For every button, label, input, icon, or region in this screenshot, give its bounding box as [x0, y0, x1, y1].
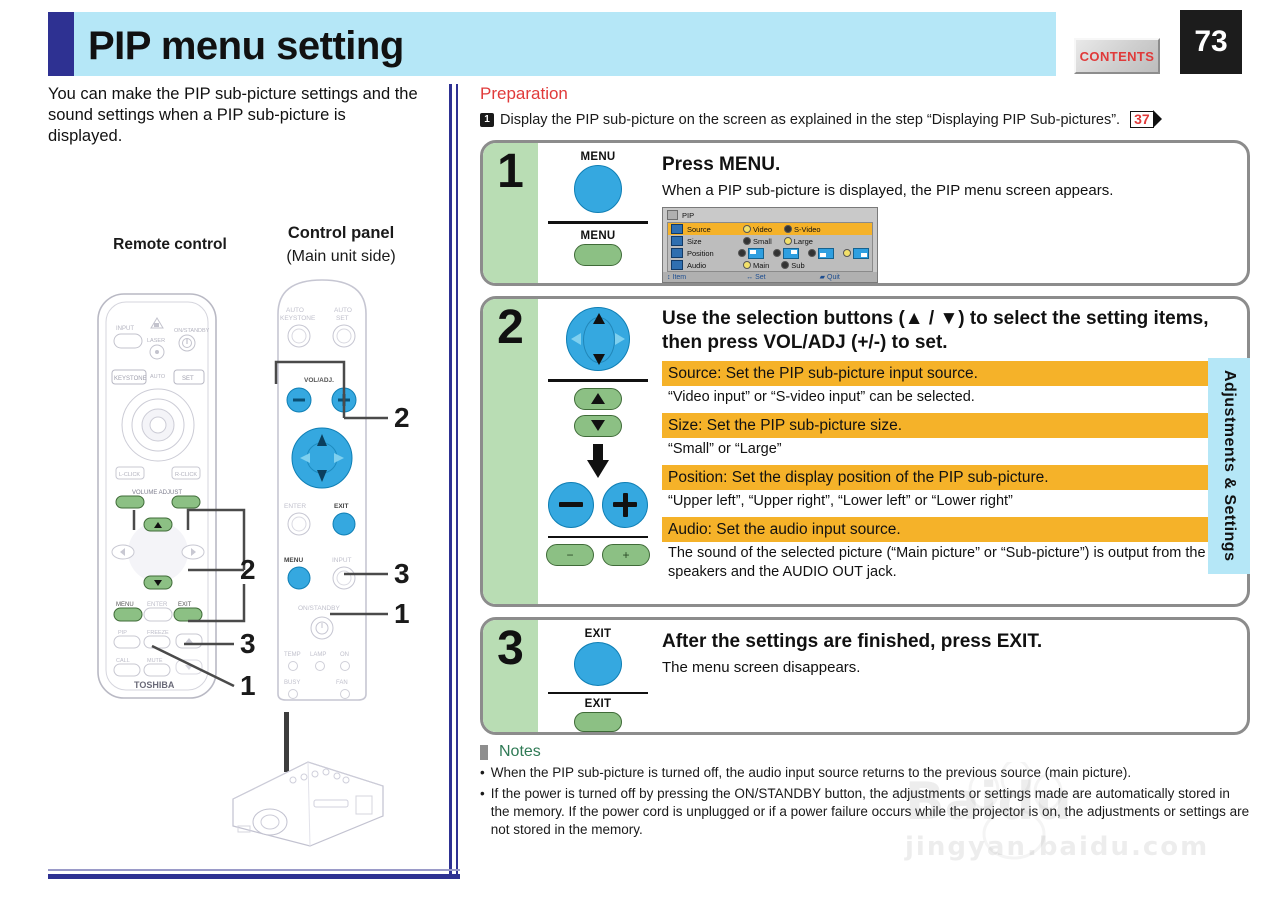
source-icon: [671, 224, 683, 234]
step-1-heading: Press MENU.: [662, 153, 1233, 177]
pip-row-audio[interactable]: Audio Main Sub: [668, 259, 872, 271]
svg-text:FAN: FAN: [336, 680, 348, 686]
svg-text:TOSHIBA: TOSHIBA: [134, 680, 175, 690]
svg-text:ON: ON: [340, 652, 349, 658]
setting-source-title: Source: Set the PIP sub-picture input so…: [662, 361, 1233, 386]
step-1-keys: MENU MENU: [538, 143, 658, 283]
pip-row-position[interactable]: Position: [668, 247, 872, 259]
flow-arrow-icon: [587, 444, 609, 478]
svg-text:L-CLICK: L-CLICK: [119, 472, 140, 478]
pip-option-large[interactable]: Large: [784, 237, 813, 246]
pip-row-source[interactable]: Source Video S-Video: [668, 223, 872, 235]
remote-control-illustration: INPUT LASER ON/STANDBY KEYSTONE AUTO SET…: [90, 290, 230, 710]
pip-position-upper-left[interactable]: [738, 248, 764, 259]
page-number: 73: [1194, 25, 1227, 59]
watermark-paw-icon: [960, 762, 1080, 872]
pip-position-upper-right[interactable]: [773, 248, 799, 259]
svg-text:AUTO: AUTO: [150, 374, 166, 380]
step-3-number-panel: 3: [483, 620, 538, 732]
svg-text:SET: SET: [336, 315, 349, 322]
footer-set-label: Set: [755, 274, 766, 281]
preparation-text: Display the PIP sub-picture on the scree…: [500, 110, 1120, 130]
pip-option-main[interactable]: Main: [743, 261, 769, 270]
step-2-number: 2: [497, 303, 524, 353]
page-reference-number: 37: [1130, 111, 1154, 128]
control-panel-label: Control panel: [241, 224, 441, 243]
side-tab-label: Adjustments & Settings: [1219, 370, 1239, 561]
svg-text:SET: SET: [182, 376, 194, 382]
step-3-body: After the settings are finished, press E…: [658, 620, 1247, 732]
pip-row-size-label: Size: [687, 237, 739, 246]
contents-button[interactable]: CONTENTS: [1074, 38, 1160, 74]
svg-text:ON/STANDBY: ON/STANDBY: [298, 605, 340, 612]
svg-text:KEYSTONE: KEYSTONE: [114, 376, 147, 382]
pip-option-video[interactable]: Video: [743, 225, 772, 234]
pip-row-size[interactable]: Size Small Large: [668, 235, 872, 247]
svg-text:R-CLICK: R-CLICK: [175, 472, 197, 478]
control-panel-illustration: AUTO KEYSTONE AUTO SET VOL/ADJ. ENTER EX…: [266, 274, 386, 704]
preparation-badge: 1: [480, 113, 494, 127]
pip-menu-title: PIP: [682, 211, 694, 220]
pip-row-audio-label: Audio: [687, 261, 739, 270]
svg-text:CALL: CALL: [116, 658, 130, 664]
pip-position-lower-left[interactable]: [808, 248, 834, 259]
control-panel-sublabel: (Main unit side): [241, 248, 441, 266]
bottom-rule-light: [48, 869, 460, 871]
pip-menu-footer: ↕ Item ↔ Set ▰ Quit: [663, 272, 877, 282]
position-icon: [671, 248, 683, 258]
step-3: 3 EXIT EXIT After the settings are finis…: [480, 617, 1250, 735]
footer-set-icon: ↔: [746, 274, 753, 281]
projector-illustration: [178, 704, 418, 864]
selection-up-button-icon[interactable]: [574, 388, 622, 410]
step-2-keys: − +: [538, 299, 658, 604]
setting-position-title: Position: Set the display position of th…: [662, 465, 1233, 490]
page-reference-arrow-icon: [1153, 110, 1162, 128]
step-3-number: 3: [497, 624, 524, 674]
svg-text:MUTE: MUTE: [147, 658, 163, 664]
pip-row-position-label: Position: [687, 249, 734, 258]
svg-text:MENU: MENU: [284, 557, 303, 564]
size-icon: [671, 236, 683, 246]
svg-text:MENU: MENU: [116, 602, 134, 608]
key-separator: [548, 536, 648, 539]
key-separator: [548, 379, 648, 382]
svg-text:INPUT: INPUT: [332, 557, 352, 564]
step-1-panel-key-label: MENU: [580, 230, 615, 242]
pip-option-small[interactable]: Small: [743, 237, 772, 246]
right-column: Preparation 1 Display the PIP sub-pictur…: [480, 84, 1250, 839]
step-3-heading: After the settings are finished, press E…: [662, 630, 1233, 654]
footer-quit-icon: ▰: [820, 273, 825, 281]
side-tab-adjustments-settings[interactable]: Adjustments & Settings: [1208, 358, 1250, 574]
svg-text:LASER: LASER: [147, 338, 165, 344]
setting-audio-detail: The sound of the selected picture (“Main…: [662, 542, 1233, 582]
pip-menu-rows: Source Video S-Video Size Small Large: [667, 222, 873, 272]
step-3-panel-key-label: EXIT: [585, 698, 612, 710]
notes-header: Notes: [480, 743, 1250, 761]
step-3-subtext: The menu screen disappears.: [662, 658, 1233, 678]
key-separator: [548, 221, 648, 224]
callout-remote-2: 2: [240, 554, 256, 586]
notes-mark-icon: [480, 745, 493, 760]
callout-remote-3: 3: [240, 628, 256, 660]
column-divider: [449, 84, 452, 874]
note-item-1: • When the PIP sub-picture is turned off…: [480, 764, 1250, 782]
svg-text:FREEZE: FREEZE: [147, 630, 169, 636]
vol-plus-pill-icon[interactable]: +: [602, 544, 650, 566]
callout-panel-3: 3: [394, 558, 410, 590]
vol-minus-button-icon[interactable]: [548, 482, 594, 528]
intro-text: You can make the PIP sub-picture setting…: [48, 84, 423, 147]
note-item-2: • If the power is turned off by pressing…: [480, 785, 1250, 839]
step-3-keys: EXIT EXIT: [538, 620, 658, 732]
preparation-title: Preparation: [480, 84, 1250, 104]
key-separator: [548, 692, 648, 694]
pip-menu-screenshot: PIP Source Video S-Video Size Small: [662, 207, 878, 283]
svg-text:TEMP: TEMP: [284, 652, 301, 658]
svg-text:VOLUME ADJUST: VOLUME ADJUST: [132, 490, 182, 496]
callout-remote-1: 1: [240, 670, 256, 702]
svg-text:ENTER: ENTER: [284, 503, 306, 510]
svg-text:ENTER: ENTER: [147, 602, 168, 608]
svg-text:LAMP: LAMP: [310, 652, 326, 658]
pip-row-source-label: Source: [687, 225, 739, 234]
setting-size-title: Size: Set the PIP sub-picture size.: [662, 413, 1233, 438]
setting-audio-title: Audio: Set the audio input source.: [662, 517, 1233, 542]
selection-down-button-icon[interactable]: [574, 415, 622, 437]
footer-item-icon: ↕: [667, 274, 671, 281]
svg-text:KEYSTONE: KEYSTONE: [280, 315, 316, 322]
column-divider-secondary: [456, 84, 458, 874]
vol-minus-pill-icon[interactable]: −: [546, 544, 594, 566]
header-accent-tab: [48, 12, 74, 76]
svg-text:PIP: PIP: [118, 630, 127, 636]
exit-button-round-icon[interactable]: [574, 642, 622, 686]
manual-page: PIP menu setting CONTENTS 73 You can mak…: [0, 0, 1280, 906]
pip-icon: [667, 210, 678, 220]
contents-button-label: CONTENTS: [1080, 49, 1155, 64]
selection-dpad-icon[interactable]: [566, 307, 630, 371]
svg-text:INPUT: INPUT: [116, 326, 134, 332]
menu-button-pill-icon[interactable]: [574, 244, 622, 266]
left-column: You can make the PIP sub-picture setting…: [48, 84, 433, 874]
voladj-round-buttons: [548, 482, 648, 528]
vol-plus-button-icon[interactable]: [602, 482, 648, 528]
note-bullet-icon: •: [480, 764, 485, 782]
setting-size-detail: “Small” or “Large”: [662, 438, 1233, 459]
page-number-box: 73: [1180, 10, 1242, 74]
setting-source-detail: “Video input” or “S-video input” can be …: [662, 386, 1233, 407]
step-2: 2 − +: [480, 296, 1250, 607]
pip-option-svideo[interactable]: S-Video: [784, 225, 821, 234]
pip-menu-title-bar: PIP: [663, 208, 877, 222]
audio-icon: [671, 260, 683, 270]
step-2-heading: Use the selection buttons (▲ / ▼) to sel…: [662, 307, 1233, 355]
svg-text:ON/STANDBY: ON/STANDBY: [174, 328, 210, 334]
step-1-remote-key-label: MENU: [580, 151, 615, 163]
step-1-number-panel: 1: [483, 143, 538, 283]
pip-position-lower-right[interactable]: [843, 248, 869, 259]
page-title: PIP menu setting: [88, 22, 404, 70]
svg-text:VOL/ADJ.: VOL/ADJ.: [304, 377, 334, 384]
callout-panel-2: 2: [394, 402, 410, 434]
page-reference[interactable]: 37: [1130, 110, 1162, 128]
callout-panel-1: 1: [394, 598, 410, 630]
step-1-body: Press MENU. When a PIP sub-picture is di…: [658, 143, 1247, 283]
exit-button-pill-icon[interactable]: [574, 712, 622, 732]
bottom-rule-accent: [48, 874, 460, 879]
svg-text:AUTO: AUTO: [334, 307, 352, 314]
step-2-body: Use the selection buttons (▲ / ▼) to sel…: [658, 299, 1247, 604]
svg-text:AUTO: AUTO: [286, 307, 304, 314]
step-2-number-panel: 2: [483, 299, 538, 604]
step-1-subtext: When a PIP sub-picture is displayed, the…: [662, 181, 1233, 201]
menu-button-round-icon[interactable]: [574, 165, 622, 213]
footer-quit-label: Quit: [827, 274, 840, 281]
preparation-line: 1 Display the PIP sub-picture on the scr…: [480, 110, 1250, 130]
pip-option-sub[interactable]: Sub: [781, 261, 804, 270]
notes-title: Notes: [499, 743, 541, 761]
svg-text:EXIT: EXIT: [178, 602, 192, 608]
step-3-remote-key-label: EXIT: [585, 628, 612, 640]
footer-item-label: Item: [673, 274, 687, 281]
svg-text:EXIT: EXIT: [334, 503, 348, 510]
voladj-pill-buttons: − +: [546, 544, 650, 566]
setting-position-detail: “Upper left”, “Upper right”, “Lower left…: [662, 490, 1233, 511]
note-text-2: If the power is turned off by pressing t…: [491, 785, 1250, 839]
step-1-number: 1: [497, 147, 524, 197]
step-1: 1 MENU MENU Press MENU. When a PIP sub-p…: [480, 140, 1250, 286]
note-bullet-icon: •: [480, 785, 485, 839]
svg-text:BUSY: BUSY: [284, 680, 300, 686]
remote-control-label: Remote control: [70, 236, 270, 254]
